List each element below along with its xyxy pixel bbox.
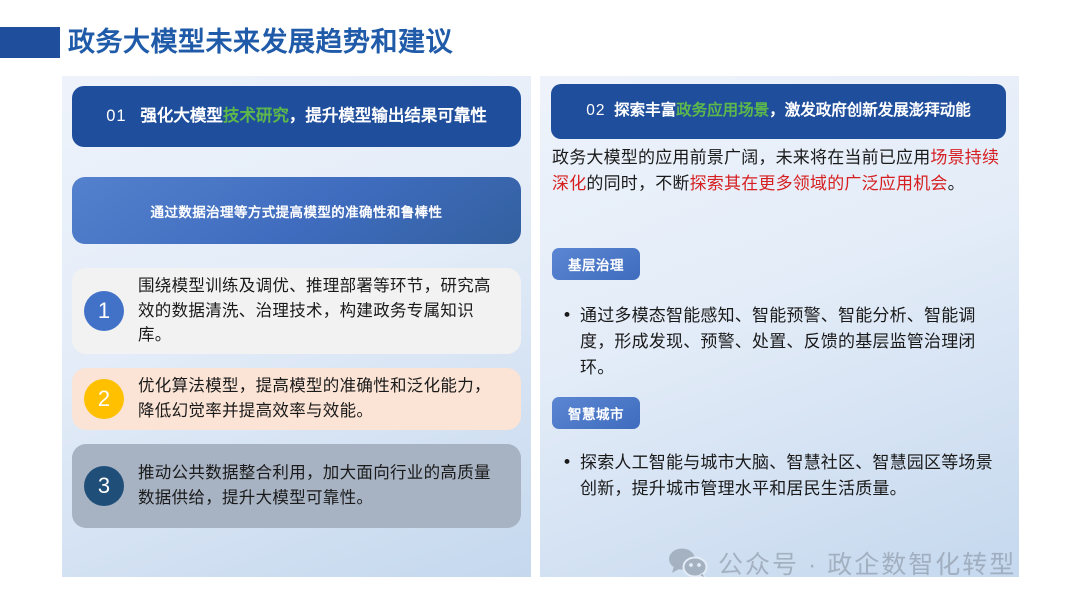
right-section-header: 02 探索丰富政务应用场景，激发政府创新发展澎拜动能 (551, 84, 1006, 139)
paragraph-part-3: 的同时，不断 (586, 174, 689, 194)
left-section-header-text: 01 强化大模型技术研究，提升模型输出结果可靠性 (106, 105, 487, 127)
right-section-header-text: 02 探索丰富政务应用场景，激发政府创新发展澎拜动能 (586, 101, 970, 121)
category-pill-grassroots: 基层治理 (552, 248, 640, 280)
card-text: 推动公共数据整合利用，加大面向行业的高质量数据供给，提升大模型可靠性。 (138, 461, 507, 511)
card-text: 围绕模型训练及调优、推理部署等环节，研究高效的数据清洗、治理技术，构建政务专属知… (138, 274, 507, 348)
page-title: 政务大模型未来发展趋势和建议 (68, 20, 453, 59)
bullet-text: 探索人工智能与城市大脑、智慧社区、智慧园区等场景创新，提升城市管理水平和居民生活… (580, 451, 1009, 503)
numbered-card: 3 推动公共数据整合利用，加大面向行业的高质量数据供给，提升大模型可靠性。 (72, 444, 521, 528)
bullet-dot-icon: • (554, 304, 580, 381)
card-number-badge: 3 (84, 466, 124, 506)
category-pill-label: 智慧城市 (568, 403, 624, 423)
right-header-after: ，激发政府创新发展澎拜动能 (769, 102, 971, 119)
left-section-header: 01 强化大模型技术研究，提升模型输出结果可靠性 (72, 86, 521, 147)
left-panel: 01 强化大模型技术研究，提升模型输出结果可靠性 通过数据治理等方式提高模型的准… (62, 76, 531, 577)
card-number-badge: 2 (84, 379, 124, 419)
category-pill-label: 基层治理 (568, 254, 624, 274)
card-text: 优化算法模型，提高模型的准确性和泛化能力，降低幻觉率并提高效率与效能。 (138, 374, 507, 424)
right-panel: 02 探索丰富政务应用场景，激发政府创新发展澎拜动能 政务大模型的应用前景广阔，… (540, 76, 1019, 577)
bullet-item: • 通过多模态智能感知、智能预警、智能分析、智能调度，形成发现、预警、处置、反馈… (554, 304, 1009, 381)
paragraph-part-1: 政务大模型的应用前景广阔，未来将在当前已应用 (552, 148, 930, 168)
bullet-dot-icon: • (554, 451, 580, 503)
right-header-before: 探索丰富 (614, 102, 676, 119)
bullet-text: 通过多模态智能感知、智能预警、智能分析、智能调度，形成发现、预警、处置、反馈的基… (580, 304, 1009, 381)
left-subbar: 通过数据治理等方式提高模型的准确性和鲁棒性 (72, 177, 521, 244)
right-section-number: 02 (586, 102, 605, 119)
left-subbar-label: 通过数据治理等方式提高模型的准确性和鲁棒性 (151, 201, 443, 221)
right-intro-paragraph: 政务大模型的应用前景广阔，未来将在当前已应用场景持续深化的同时，不断探索其在更多… (552, 146, 1007, 198)
title-accent-block (0, 27, 60, 58)
left-header-highlight: 技术研究 (223, 107, 289, 125)
left-section-number: 01 (106, 107, 126, 125)
paragraph-highlight-2: 探索其在更多领域的广泛应用机会 (690, 174, 948, 194)
left-header-after: ，提升模型输出结果可靠性 (289, 107, 487, 125)
numbered-card: 1 围绕模型训练及调优、推理部署等环节，研究高效的数据清洗、治理技术，构建政务专… (72, 268, 521, 354)
card-number-badge: 1 (84, 291, 124, 331)
category-pill-smart-city: 智慧城市 (552, 397, 640, 429)
paragraph-part-5: 。 (948, 174, 965, 194)
bullet-item: • 探索人工智能与城市大脑、智慧社区、智慧园区等场景创新，提升城市管理水平和居民… (554, 451, 1009, 503)
right-header-highlight: 政务应用场景 (676, 102, 769, 119)
left-header-before: 强化大模型 (140, 107, 223, 125)
numbered-card: 2 优化算法模型，提高模型的准确性和泛化能力，降低幻觉率并提高效率与效能。 (72, 368, 521, 430)
